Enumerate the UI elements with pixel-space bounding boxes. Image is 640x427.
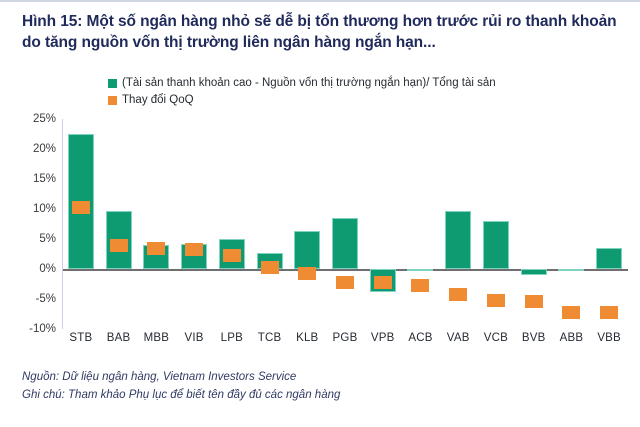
qoq-marker-vib <box>185 243 203 256</box>
x-axis-tick-label: KLB <box>296 332 318 344</box>
bar-klb <box>294 231 320 269</box>
y-axis-tick-label: -5% <box>10 293 56 305</box>
qoq-marker-bvb <box>525 295 543 308</box>
x-axis-tick-label: ACB <box>408 332 432 344</box>
qoq-marker-vbb <box>600 306 618 319</box>
chart-plot-area: 25%20%15%10%5%0%-5%-10% STBBABMBBVIBLPBT… <box>0 2 640 427</box>
y-axis: 25%20%15%10%5%0%-5%-10% <box>10 2 56 427</box>
bar-bvb <box>521 269 547 275</box>
bar-acb <box>407 269 433 271</box>
chart-figure-card: Hình 15: Một số ngân hàng nhỏ sẽ dễ bị t… <box>0 0 640 425</box>
x-axis-tick-label: VPB <box>371 332 395 344</box>
qoq-marker-stb <box>72 201 90 214</box>
bar-vab <box>445 211 471 269</box>
y-axis-tick-label: 15% <box>10 173 56 185</box>
bar-vbb <box>596 248 622 269</box>
y-axis-tick-label: -10% <box>10 323 56 335</box>
x-axis-tick-label: BVB <box>522 332 546 344</box>
qoq-marker-lpb <box>223 249 241 262</box>
y-axis-tick-label: 0% <box>10 263 56 275</box>
y-axis-tick-label: 5% <box>10 233 56 245</box>
y-axis-tick-label: 20% <box>10 143 56 155</box>
x-axis-tick-label: BAB <box>107 332 131 344</box>
x-axis-tick-label: VIB <box>184 332 203 344</box>
x-axis-tick-label: TCB <box>258 332 282 344</box>
x-axis-tick-label: VCB <box>484 332 508 344</box>
x-axis-tick-label: STB <box>69 332 92 344</box>
qoq-marker-abb <box>562 306 580 319</box>
bar-pgb <box>332 218 358 269</box>
y-axis-line <box>62 119 63 329</box>
qoq-marker-acb <box>411 279 429 292</box>
qoq-marker-mbb <box>147 242 165 255</box>
qoq-marker-klb <box>298 267 316 280</box>
bar-abb <box>558 269 584 271</box>
x-axis-tick-label: LPB <box>221 332 243 344</box>
x-axis-tick-label: PGB <box>333 332 358 344</box>
figure-footnotes: Nguồn: Dữ liệu ngân hàng, Vietnam Invest… <box>22 368 340 405</box>
qoq-marker-vab <box>449 288 467 301</box>
qoq-marker-vpb <box>374 276 392 289</box>
x-axis-tick-label: VAB <box>447 332 470 344</box>
qoq-marker-tcb <box>261 261 279 274</box>
x-axis-tick-label: VBB <box>597 332 621 344</box>
qoq-marker-bab <box>110 239 128 252</box>
y-axis-tick-label: 10% <box>10 203 56 215</box>
x-axis-tick-label: ABB <box>560 332 584 344</box>
qoq-marker-pgb <box>336 276 354 289</box>
bar-vcb <box>483 221 509 269</box>
x-axis-tick-label: MBB <box>144 332 170 344</box>
y-axis-tick-label: 25% <box>10 113 56 125</box>
footnote-note: Ghi chú: Tham khảo Phụ lục để biết tên đ… <box>22 386 340 404</box>
footnote-source: Nguồn: Dữ liệu ngân hàng, Vietnam Invest… <box>22 368 340 386</box>
qoq-marker-vcb <box>487 294 505 307</box>
